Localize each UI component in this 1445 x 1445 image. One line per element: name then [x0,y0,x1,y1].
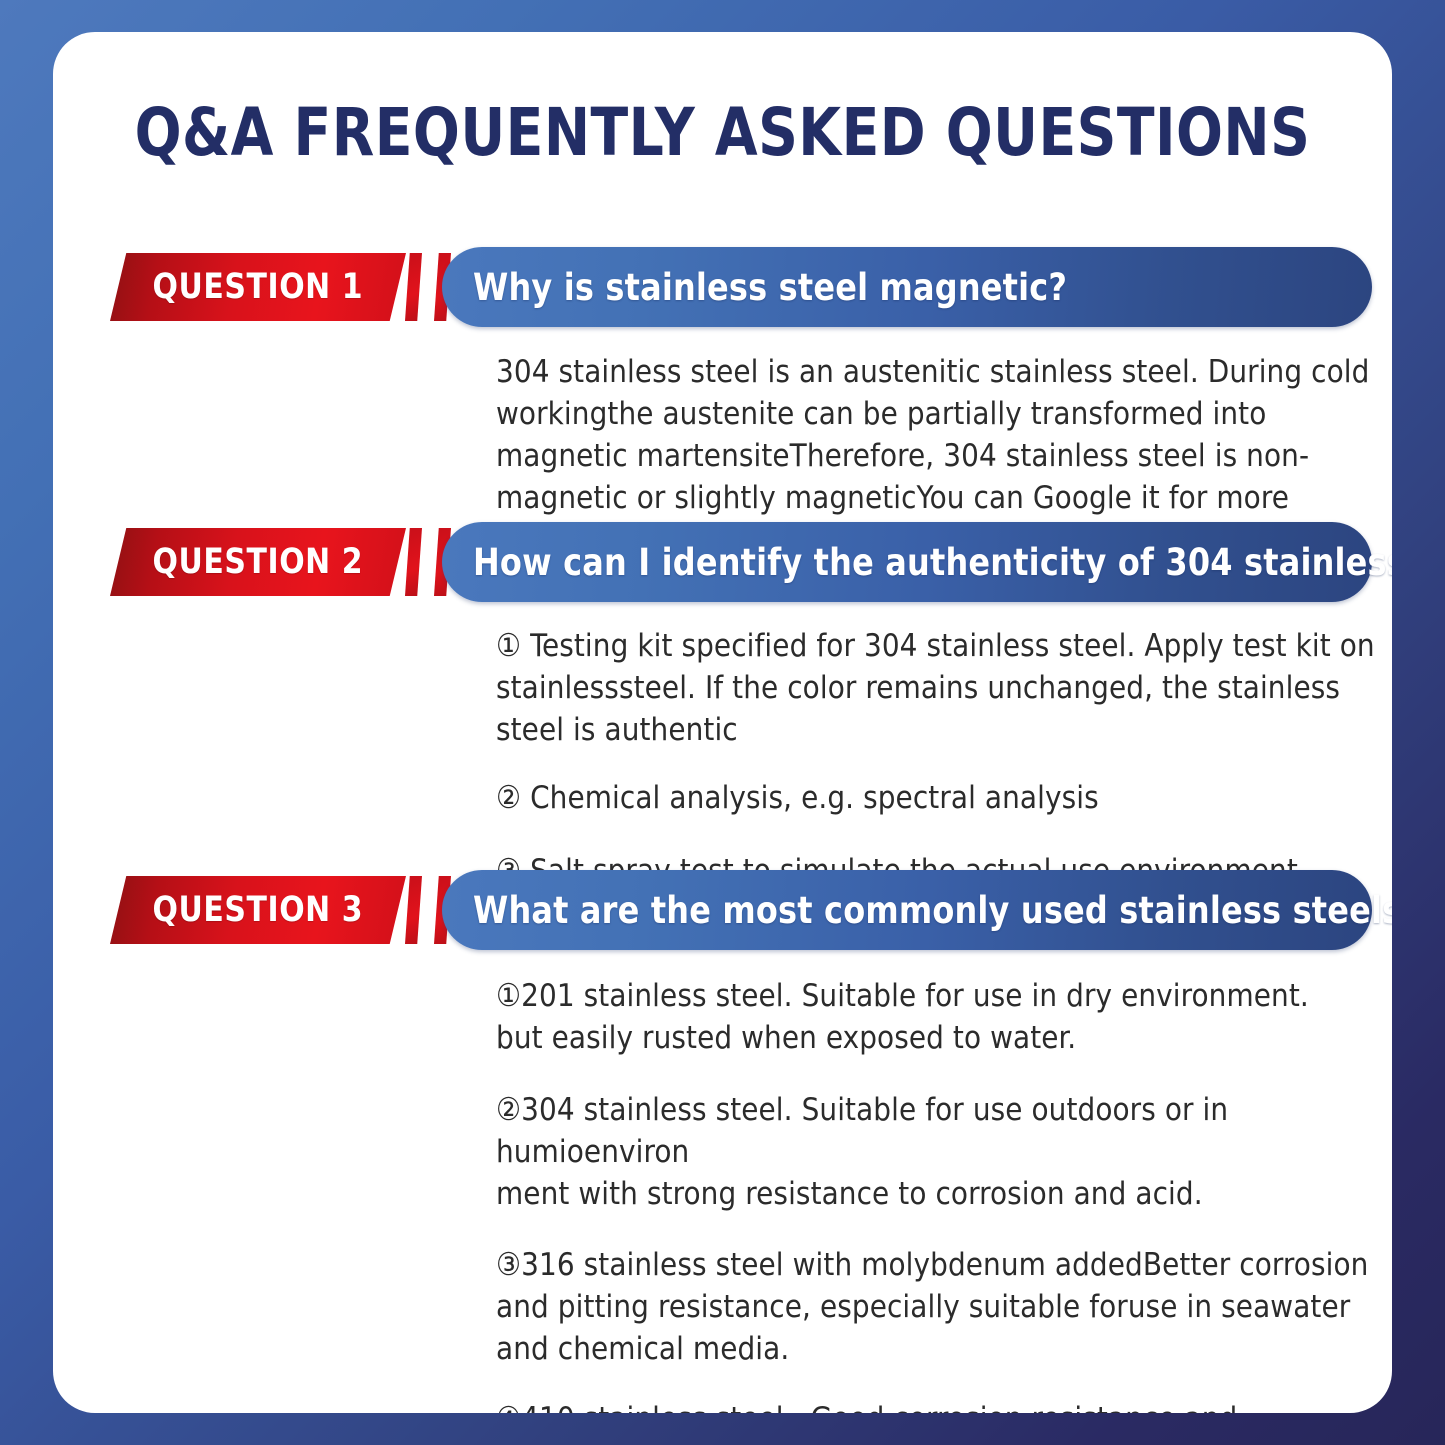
question-ribbon-2: QUESTION 2 [110,528,406,596]
question-text-1: Why is stainless steel magnetic? [473,266,1067,309]
slash-accent-icon [405,528,422,596]
answer-paragraph: ③316 stainless steel with molybdenum add… [496,1245,1383,1371]
question-header-3: QUESTION 3 What are the most commonly us… [53,870,1392,956]
question-text-3: What are the most commonly used stainles… [473,889,1392,932]
answer-list-2: ① Testing kit specified for 304 stainles… [496,626,1392,892]
question-block-1: QUESTION 1 Why is stainless steel magnet… [53,247,1392,333]
question-ribbon-1: QUESTION 1 [110,253,406,321]
question-ribbon-3: QUESTION 3 [110,876,406,944]
answer-list-3: ①201 stainless steel. Suitable for use i… [496,976,1392,1413]
answer-paragraph: ④410 stainless steel . Good corrosion re… [496,1399,1383,1413]
slash-accent-icon [405,876,422,944]
question-ribbon-label-1: QUESTION 1 [153,267,364,307]
faq-card: Q&A FREQUENTLY ASKED QUESTIONS QUESTION … [53,32,1392,1413]
question-block-3: QUESTION 3 What are the most commonly us… [53,870,1392,956]
answer-paragraph: ① Testing kit specified for 304 stainles… [496,626,1383,752]
question-ribbon-label-2: QUESTION 2 [153,542,364,582]
slash-accent-icon [405,253,422,321]
question-text-2: How can I identify the authenticity of 3… [473,541,1392,584]
question-pill-2[interactable]: How can I identify the authenticity of 3… [442,522,1372,602]
question-header-1: QUESTION 1 Why is stainless steel magnet… [53,247,1392,333]
page-title: Q&A FREQUENTLY ASKED QUESTIONS [100,94,1345,171]
answer-paragraph: ②304 stainless steel. Suitable for use o… [496,1090,1383,1216]
question-block-2: QUESTION 2 How can I identify the authen… [53,522,1392,608]
answer-paragraph: ② Chemical analysis, e.g. spectral analy… [496,778,1383,820]
question-pill-1[interactable]: Why is stainless steel magnetic? [442,247,1372,327]
question-pill-3[interactable]: What are the most commonly used stainles… [442,870,1372,950]
answer-paragraph: ①201 stainless steel. Suitable for use i… [496,976,1383,1060]
question-header-2: QUESTION 2 How can I identify the authen… [53,522,1392,608]
question-ribbon-label-3: QUESTION 3 [153,890,364,930]
faq-page: Q&A FREQUENTLY ASKED QUESTIONS QUESTION … [0,0,1445,1445]
